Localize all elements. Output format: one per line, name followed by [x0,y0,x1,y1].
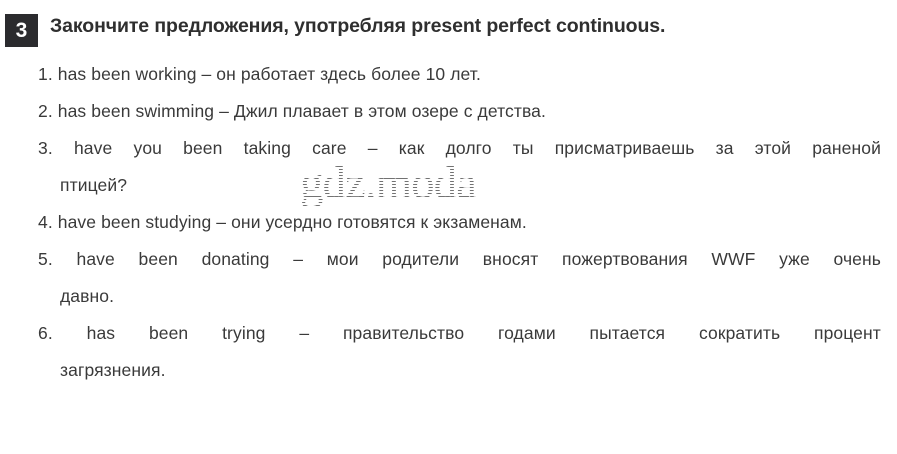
answer-word: donating [202,241,270,278]
answer-word: – [299,315,309,352]
answer-item: 1. has been working – он работает здесь … [38,56,881,93]
answer-line: 1. has been working – он работает здесь … [38,56,881,93]
answer-word: been [149,315,188,352]
answer-word: очень [834,241,881,278]
answer-word: пожертвования [562,241,688,278]
answer-list: 1. has been working – он работает здесь … [0,56,897,389]
answer-line: 3.haveyoubeentakingcare–какдолготыприсма… [38,130,881,167]
answer-word: you [133,130,162,167]
answer-item: 6.hasbeentrying–правительствогодамипытае… [38,315,881,389]
exercise-header: 3 Закончите предложения, употребляя pres… [0,12,897,52]
answer-word: WWF [711,241,755,278]
answer-line: птицей? [60,167,881,204]
answer-item: 2. has been swimming – Джил плавает в эт… [38,93,881,130]
answer-word: вносят [483,241,539,278]
answer-word: have [74,130,112,167]
answer-word: годами [498,315,556,352]
answer-word: – [293,241,303,278]
answer-word: присматриваешь [555,130,695,167]
answer-word: – [368,130,378,167]
answer-item: 3.haveyoubeentakingcare–какдолготыприсма… [38,130,881,204]
answer-word: ты [513,130,534,167]
answer-word: за [716,130,734,167]
answer-word: этой [755,130,791,167]
answer-word: родители [382,241,459,278]
answer-word: раненой [812,130,881,167]
answer-word: taking [244,130,291,167]
answer-word: trying [222,315,265,352]
answer-word: процент [814,315,881,352]
answer-word: правительство [343,315,464,352]
answer-line: 6.hasbeentrying–правительствогодамипытае… [38,315,881,352]
answer-word: 3. [38,130,53,167]
answer-word: как [399,130,425,167]
answer-line: давно. [60,278,881,315]
answer-line: 2. has been swimming – Джил плавает в эт… [38,93,881,130]
answer-word: has [87,315,116,352]
answer-line: 5.havebeendonating–моиродителивносятпоже… [38,241,881,278]
answer-item: 5.havebeendonating–моиродителивносятпоже… [38,241,881,315]
answer-word: сократить [699,315,780,352]
answer-word: care [312,130,346,167]
answer-item: 4. have been studying – они усердно гото… [38,204,881,241]
answer-line: загрязнения. [60,352,881,389]
answer-line: 4. have been studying – они усердно гото… [38,204,881,241]
answer-word: мои [327,241,359,278]
answer-word: been [183,130,222,167]
answer-word: долго [446,130,492,167]
answer-word: have [76,241,114,278]
answer-word: пытается [590,315,666,352]
answer-word: been [139,241,178,278]
answer-word: 6. [38,315,53,352]
task-number-badge: 3 [5,14,38,47]
task-title: Закончите предложения, употребляя presen… [50,15,880,38]
answer-word: уже [779,241,810,278]
answer-word: 5. [38,241,53,278]
